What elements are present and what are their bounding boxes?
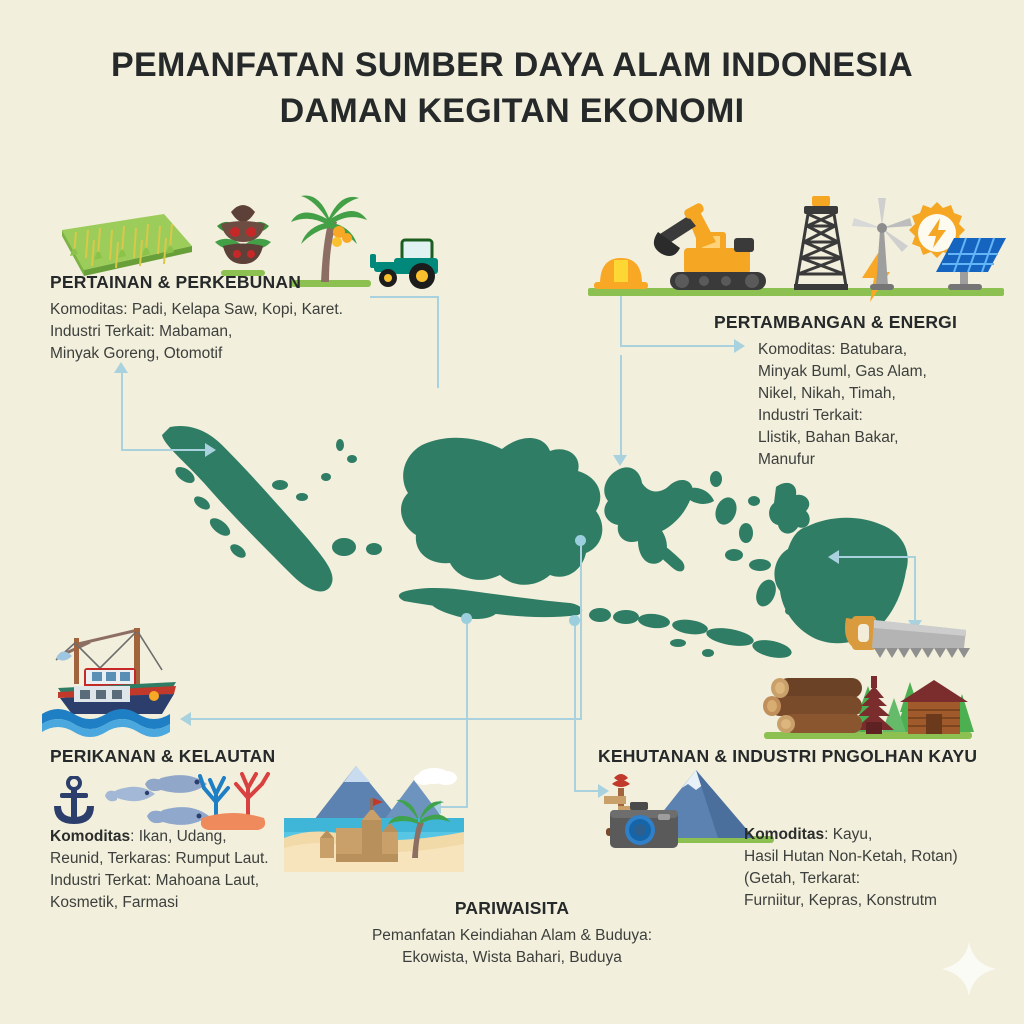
section-kehutanan-heading: KEHUTANAN & INDUSTRI PNGOLHAN KAYU: [598, 746, 1018, 767]
section-kehutanan-body: Komoditas: Kayu, Hasil Hutan Non-Ketah, …: [744, 824, 1024, 912]
section-pertambangan-line-4: Llistik, Bahan Bakar,: [758, 427, 1014, 449]
connector-kehutanan2-node: [569, 615, 580, 626]
connector-energi-v2: [620, 355, 622, 457]
section-kehutanan-line-0: Komoditas: Kayu,: [744, 824, 1024, 846]
connector-pertanian-v: [121, 372, 123, 450]
section-kehutanan-line-3: Furniitur, Kepras, Konstrutm: [744, 890, 1024, 912]
connector-perikanan-node: [575, 535, 586, 546]
connector-pertanian-h: [121, 449, 211, 451]
excavator-icon: [648, 196, 786, 292]
section-kehutanan-line-1: Hasil Hutan Non-Ketah, Rotan): [744, 846, 1024, 868]
section-pariwisata-heading: PARIWAISITA: [262, 898, 762, 919]
coffee-plant-icon: [207, 196, 279, 278]
connector-pariwisata-node: [461, 613, 472, 624]
connector-energi-v: [620, 290, 622, 346]
cabin-icon: [896, 678, 972, 738]
connector-pertanian-arrowhead-map: [205, 443, 216, 457]
sparkle-icon: [940, 940, 998, 998]
title-line-1: PEMANFATAN SUMBER DAYA ALAM INDONESIA: [0, 44, 1024, 86]
komoditas-label-perikanan: Komoditas: [50, 828, 130, 845]
connector-pariwisata-v: [466, 618, 468, 808]
rice-field-icon: [44, 196, 194, 278]
camera-icon: [608, 800, 680, 852]
section-pertanian-line-0: Komoditas: Padi, Kelapa Saw, Kopi, Karet…: [50, 299, 390, 321]
section-perikanan-heading-wrap: PERIKANAN & KELAUTAN: [50, 746, 350, 773]
section-perikanan-line-1: Reunid, Terkaras: Rumput Laut.: [50, 848, 380, 870]
section-kehutanan-line-2: (Getah, Terkarat:: [744, 868, 1024, 890]
section-pertambangan-line-5: Manufur: [758, 449, 1014, 471]
section-pertambangan-heading: PERTAMBANGAN & ENERGI: [714, 312, 1014, 333]
connector-kehutanan2-v: [574, 620, 576, 792]
coral-icon: [196, 768, 276, 832]
fishing-boat-icon: [38, 614, 204, 738]
title-line-2: DAMAN KEGITAN EKONOMI: [0, 90, 1024, 132]
connector-perikanan-h: [190, 718, 582, 720]
hard-hat-icon: [592, 250, 650, 292]
saw-icon: [840, 608, 972, 666]
oil-derrick-icon: [790, 194, 852, 292]
logs-icon: [756, 674, 866, 736]
section-pariwisata-line-0: Pemanfatan Keindiahan Alam & Buduya:: [262, 925, 762, 947]
section-kehutanan-heading-wrap: KEHUTANAN & INDUSTRI PNGOLHAN KAYU: [598, 746, 1018, 773]
connector-perikanan-v: [580, 540, 582, 720]
section-pariwisata: PARIWAISITA Pemanfatan Keindiahan Alam &…: [262, 898, 762, 969]
section-pertambangan-line-3: Industri Terkait:: [758, 405, 1014, 427]
section-pertanian-line-1: Industri Terkait: Mabaman,: [50, 321, 390, 343]
section-perikanan-line-0: Komoditas: Ikan, Udang,: [50, 826, 380, 848]
section-pertambangan: PERTAMBANGAN & ENERGI Komoditas: Batubar…: [714, 312, 1014, 471]
section-pertanian-heading: PERTAINAN & PERKEBUNAN: [50, 272, 390, 293]
connector-kehutanan-h: [838, 556, 916, 558]
solar-panel-icon: [924, 228, 1010, 294]
connector-kehutanan-arrow: [828, 550, 839, 564]
connector-pertanian-drop: [437, 296, 439, 388]
infographic-canvas: PEMANFATAN SUMBER DAYA ALAM INDONESIA DA…: [0, 0, 1024, 1024]
anchor-icon: [50, 776, 98, 828]
section-perikanan-heading: PERIKANAN & KELAUTAN: [50, 746, 350, 767]
section-pariwisata-line-1: Ekowista, Wista Bahari, Buduya: [262, 947, 762, 969]
section-kehutanan-line-0-rest: : Kayu,: [824, 826, 872, 843]
section-pertambangan-line-0: Komoditas: Batubara,: [758, 339, 1014, 361]
section-pertambangan-line-1: Minyak Buml, Gas Alam,: [758, 361, 1014, 383]
section-perikanan-line-2: Industri Terkat: Mahoana Laut,: [50, 870, 380, 892]
section-pertanian: PERTAINAN & PERKEBUNAN Komoditas: Padi, …: [50, 272, 390, 365]
section-perikanan-line-0-rest: : Ikan, Udang,: [130, 828, 227, 845]
page-title: PEMANFATAN SUMBER DAYA ALAM INDONESIA DA…: [0, 44, 1024, 132]
section-pertanian-line-2: Minyak Goreng, Otomotif: [50, 343, 390, 365]
komoditas-label-kehutanan: Komoditas: [744, 826, 824, 843]
section-pertambangan-line-2: Nikel, Nikah, Timah,: [758, 383, 1014, 405]
